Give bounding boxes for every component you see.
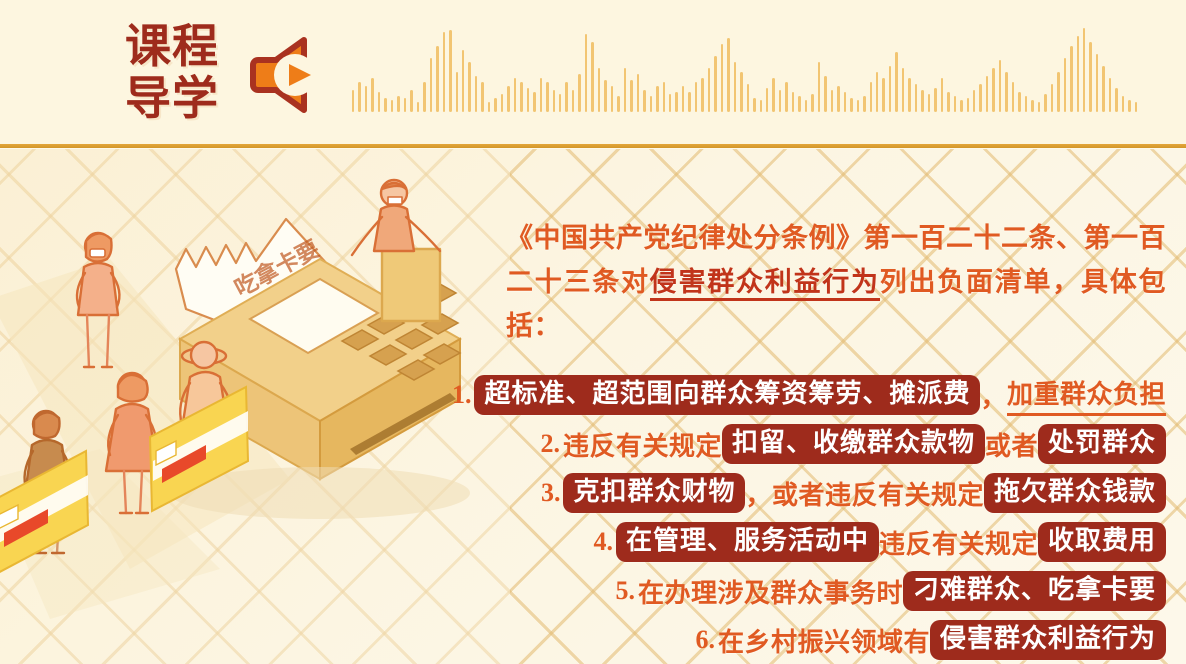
- waveform-bar: [1122, 96, 1124, 112]
- waveform-bar: [863, 96, 865, 112]
- waveform-bar: [818, 62, 820, 112]
- waveform-bar: [488, 102, 490, 112]
- waveform-bar: [1135, 102, 1137, 112]
- waveform-bar: [365, 86, 367, 112]
- waveform-bar: [578, 74, 580, 112]
- list-item-number: 2.: [540, 429, 560, 459]
- waveform-bar: [824, 76, 826, 112]
- waveform-bar: [449, 30, 451, 112]
- list-item: 4.在管理、服务活动中违反有关规定收取费用: [506, 522, 1166, 562]
- waveform-bar: [1005, 72, 1007, 112]
- highlight-pill: 拖欠群众钱款: [984, 473, 1166, 513]
- waveform-bar: [747, 84, 749, 112]
- highlight-pill: 克扣群众财物: [563, 473, 745, 513]
- waveform-bar: [785, 82, 787, 112]
- highlight-pill: 处罚群众: [1038, 424, 1166, 464]
- waveform-bar: [1012, 82, 1014, 112]
- highlight-pill: 在管理、服务活动中: [616, 522, 879, 562]
- lede-paragraph: 《中国共产党纪律处分条例》第一百二十二条、第一百二十三条对侵害群众利益行为列出负…: [506, 216, 1166, 348]
- header-bar: 课程 导学: [0, 0, 1186, 148]
- waveform-bar: [1064, 58, 1066, 112]
- waveform-bar: [404, 98, 406, 112]
- list-item-number: 3.: [541, 478, 561, 508]
- waveform-bar: [1018, 92, 1020, 112]
- waveform-bar: [1044, 94, 1046, 112]
- waveform-bar: [475, 76, 477, 112]
- waveform-bar: [397, 96, 399, 112]
- waveform-bar: [533, 92, 535, 112]
- waveform-bar: [630, 80, 632, 112]
- plain-phrase: ，: [980, 377, 1007, 414]
- waveform-bar: [844, 92, 846, 112]
- waveform-bar: [915, 84, 917, 112]
- waveform-bar: [352, 90, 354, 112]
- waveform-bar: [468, 62, 470, 112]
- logo-line-2: 导学: [125, 72, 219, 124]
- plain-phrase: 违反有关规定: [879, 524, 1038, 561]
- waveform-bar: [650, 96, 652, 112]
- text-column: 《中国共产党纪律处分条例》第一百二十二条、第一百二十三条对侵害群众利益行为列出负…: [506, 189, 1166, 664]
- waveform-bar: [928, 94, 930, 112]
- waveform-bar: [954, 96, 956, 112]
- waveform-bar: [520, 82, 522, 112]
- waveform-bar: [798, 96, 800, 112]
- waveform-bar: [753, 98, 755, 112]
- list-item-number: 6.: [695, 625, 715, 655]
- waveform-bar: [371, 78, 373, 112]
- content-area: 吃拿卡要: [0, 149, 1186, 664]
- audio-waveform: [352, 12, 1142, 112]
- course-guide-logo: 课程 导学: [112, 18, 232, 126]
- waveform-bar: [682, 86, 684, 112]
- waveform-bar: [546, 82, 548, 112]
- list-item: 1.超标准、超范围向群众筹资筹劳、摊派费，加重群众负担: [506, 375, 1166, 415]
- plain-phrase: ，或者违反有关规定: [745, 475, 984, 512]
- waveform-bar: [837, 86, 839, 112]
- waveform-bar: [941, 78, 943, 112]
- waveform-bar: [559, 94, 561, 112]
- waveform-bar: [669, 94, 671, 112]
- pos-machine-queue-illustration: 吃拿卡要: [0, 149, 510, 664]
- waveform-bar: [701, 78, 703, 112]
- waveform-bar: [410, 90, 412, 112]
- negative-list: 1.超标准、超范围向群众筹资筹劳、摊派费，加重群众负担2.违反有关规定扣留、收缴…: [506, 375, 1166, 664]
- plain-phrase: 在乡村振兴领域有: [718, 622, 930, 659]
- waveform-bar: [462, 50, 464, 112]
- waveform-bar: [527, 88, 529, 112]
- waveform-bar: [708, 68, 710, 112]
- header-divider: [0, 144, 1186, 148]
- waveform-bar: [992, 68, 994, 112]
- underlined-phrase: 加重群众负担: [1007, 374, 1166, 416]
- waveform-bar: [637, 74, 639, 112]
- waveform-bar: [656, 86, 658, 112]
- waveform-bar: [540, 78, 542, 112]
- waveform-bar: [1102, 66, 1104, 112]
- waveform-bar: [934, 88, 936, 112]
- list-item: 5.在办理涉及群众事务时刁难群众、吃拿卡要: [506, 571, 1166, 611]
- waveform-bar: [1128, 100, 1130, 112]
- waveform-bar: [740, 72, 742, 112]
- waveform-bar: [850, 98, 852, 112]
- list-item: 3.克扣群众财物，或者违反有关规定拖欠群众钱款: [506, 473, 1166, 513]
- waveform-bar: [1109, 78, 1111, 112]
- waveform-bar: [695, 82, 697, 112]
- waveform-bar: [889, 66, 891, 112]
- waveform-bar: [1070, 46, 1072, 112]
- waveform-bar: [895, 52, 897, 112]
- waveform-bar: [772, 78, 774, 112]
- waveform-bar: [870, 82, 872, 112]
- waveform-bar: [494, 98, 496, 112]
- waveform-bar: [921, 90, 923, 112]
- waveform-bar: [882, 78, 884, 112]
- waveform-bar: [611, 86, 613, 112]
- waveform-bar: [1025, 96, 1027, 112]
- receipt-text: 吃拿卡要: [230, 235, 324, 302]
- waveform-bar: [604, 80, 606, 112]
- waveform-bar: [1077, 36, 1079, 112]
- waveform-bar: [423, 82, 425, 112]
- waveform-bar: [436, 46, 438, 112]
- waveform-bar: [391, 100, 393, 112]
- waveform-bar: [714, 56, 716, 112]
- waveform-bar: [507, 86, 509, 112]
- waveform-bar: [734, 62, 736, 112]
- waveform-bar: [908, 78, 910, 112]
- waveform-bar: [792, 92, 794, 112]
- list-item-number: 5.: [615, 576, 635, 606]
- list-item-number: 4.: [593, 527, 613, 557]
- waveform-bar: [857, 100, 859, 112]
- waveform-bar: [967, 98, 969, 112]
- waveform-bar: [1057, 72, 1059, 112]
- waveform-bar: [973, 90, 975, 112]
- logo-line-1: 课程: [125, 20, 219, 72]
- waveform-bar: [553, 90, 555, 112]
- waveform-bar: [902, 68, 904, 112]
- waveform-bar: [688, 92, 690, 112]
- waveform-bar: [384, 98, 386, 112]
- waveform-bar: [481, 82, 483, 112]
- waveform-bar: [766, 88, 768, 112]
- waveform-bar: [1089, 42, 1091, 112]
- waveform-bar: [1083, 28, 1085, 112]
- waveform-bar: [811, 94, 813, 112]
- lede-highlight: 侵害群众利益行为: [650, 267, 880, 301]
- waveform-bar: [675, 92, 677, 112]
- highlight-pill: 侵害群众利益行为: [930, 620, 1166, 660]
- highlight-pill: 刁难群众、吃拿卡要: [903, 571, 1166, 611]
- waveform-bar: [876, 72, 878, 112]
- waveform-bar: [999, 60, 1001, 112]
- waveform-bar: [1051, 84, 1053, 112]
- waveform-bar: [1096, 54, 1098, 112]
- highlight-pill: 收取费用: [1038, 522, 1166, 562]
- list-item-number: 1.: [452, 380, 472, 410]
- waveform-bar: [501, 94, 503, 112]
- waveform-bar: [572, 90, 574, 112]
- plain-phrase: 违反有关规定: [563, 426, 722, 463]
- list-item: 2.违反有关规定扣留、收缴群众款物或者处罚群众: [506, 424, 1166, 464]
- waveform-bar: [986, 76, 988, 112]
- waveform-bar: [1115, 88, 1117, 112]
- waveform-bar: [624, 68, 626, 112]
- waveform-bar: [378, 92, 380, 112]
- waveform-bar: [358, 82, 360, 112]
- waveform-bar: [831, 90, 833, 112]
- waveform-bar: [514, 78, 516, 112]
- infographic-page: 课程 导学: [0, 0, 1186, 664]
- waveform-bar: [779, 90, 781, 112]
- waveform-bar: [721, 44, 723, 112]
- waveform-bar: [947, 92, 949, 112]
- waveform-bar: [960, 100, 962, 112]
- waveform-bar: [443, 32, 445, 112]
- waveform-bar: [591, 42, 593, 112]
- waveform-bar: [727, 38, 729, 112]
- highlight-pill: 扣留、收缴群众款物: [722, 424, 985, 464]
- waveform-bar: [1038, 102, 1040, 112]
- waveform-bar: [805, 100, 807, 112]
- waveform-bar: [598, 68, 600, 112]
- waveform-bar: [979, 84, 981, 112]
- plain-phrase: 在办理涉及群众事务时: [638, 573, 903, 610]
- highlight-pill: 超标准、超范围向群众筹资筹劳、摊派费: [474, 375, 980, 415]
- speaker-play-icon[interactable]: [248, 28, 340, 120]
- plain-phrase: 或者: [985, 426, 1038, 463]
- waveform-bar: [417, 102, 419, 112]
- waveform-bar: [430, 58, 432, 112]
- waveform-bar: [663, 82, 665, 112]
- waveform-bar: [565, 82, 567, 112]
- waveform-bar: [760, 100, 762, 112]
- list-item: 6.在乡村振兴领域有侵害群众利益行为: [506, 620, 1166, 660]
- waveform-bar: [1031, 100, 1033, 112]
- waveform-bar: [456, 72, 458, 112]
- waveform-bar: [643, 90, 645, 112]
- waveform-bar: [617, 96, 619, 112]
- waveform-bar: [585, 34, 587, 112]
